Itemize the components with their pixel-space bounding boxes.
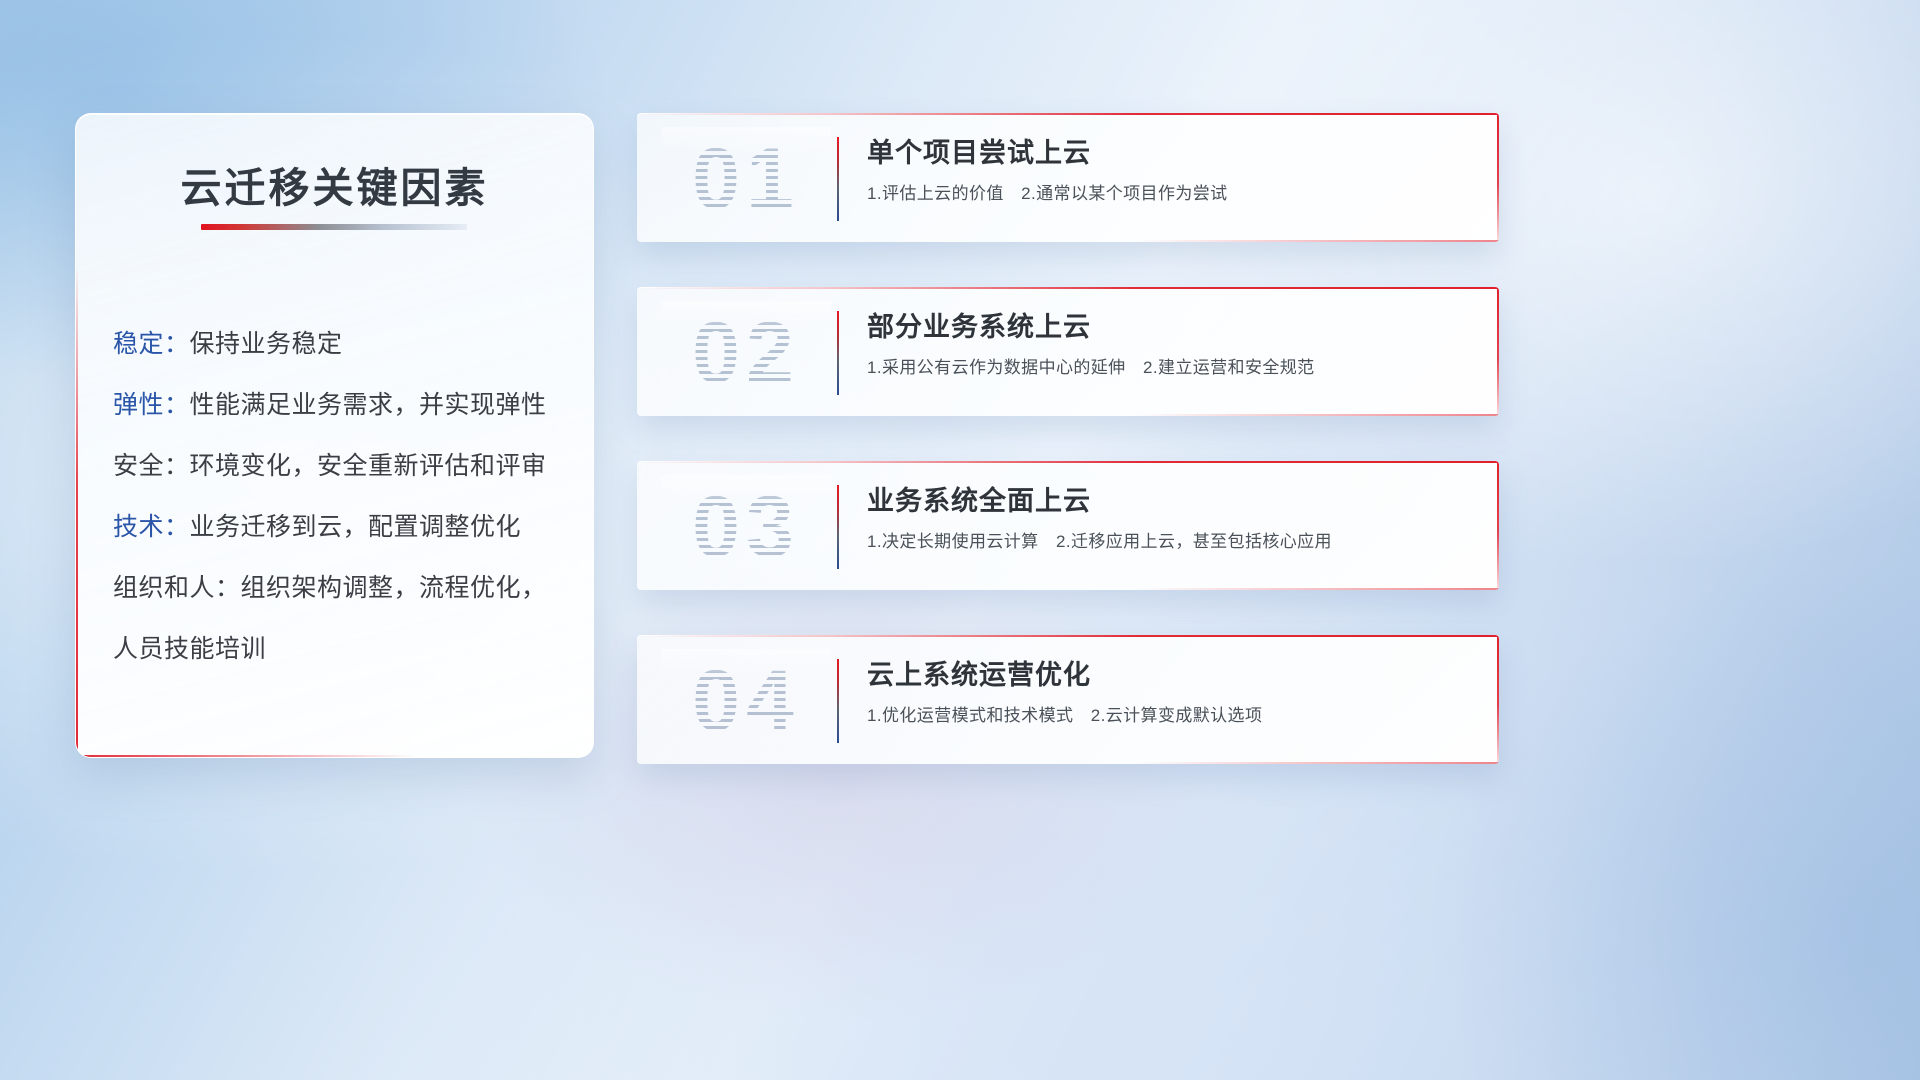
step-subtitle: 1.采用公有云作为数据中心的延伸 2.建立运营和安全规范 — [867, 355, 1475, 381]
list-item-label: 技术： — [113, 513, 190, 541]
key-factors-card: 云迁移关键因素 稳定：保持业务稳定 弹性：性能满足业务需求，并实现弹性 安全：环… — [75, 113, 594, 758]
card-right-accent-line — [1497, 635, 1499, 764]
step-title: 部分业务系统上云 — [867, 309, 1475, 345]
card-bottom-accent-line — [1137, 762, 1499, 764]
card-left-accent-line — [76, 264, 78, 758]
list-item: 稳定：保持业务稳定 — [113, 314, 565, 375]
list-item-label: 稳定： — [113, 330, 190, 358]
step-title: 云上系统运营优化 — [867, 657, 1475, 693]
list-item-text: 环境变化，安全重新评估和评审 — [190, 452, 547, 480]
step-divider-bar — [837, 659, 839, 743]
step-number: 02 — [661, 301, 831, 405]
migration-steps-list: 01 单个项目尝试上云 1.评估上云的价值 2.通常以某个项目作为尝试 02 部… — [637, 113, 1499, 809]
step-divider-bar — [837, 311, 839, 395]
card-bottom-accent-line — [1137, 588, 1499, 590]
step-title: 单个项目尝试上云 — [867, 135, 1475, 171]
list-item: 组织和人：组织架构调整，流程优化， — [113, 558, 565, 619]
step-content: 部分业务系统上云 1.采用公有云作为数据中心的延伸 2.建立运营和安全规范 — [867, 309, 1475, 381]
step-card[interactable]: 03 业务系统全面上云 1.决定长期使用云计算 2.迁移应用上云，甚至包括核心应… — [637, 461, 1499, 590]
list-item-text: 人员技能培训 — [113, 635, 266, 663]
list-item-label: 组织和人： — [113, 574, 241, 602]
step-number: 01 — [661, 127, 831, 231]
card-top-accent-line — [637, 287, 1499, 289]
step-card[interactable]: 04 云上系统运营优化 1.优化运营模式和技术模式 2.云计算变成默认选项 — [637, 635, 1499, 764]
step-divider-bar — [837, 137, 839, 221]
title-underline-gradient — [201, 224, 467, 230]
step-divider-bar — [837, 485, 839, 569]
card-top-accent-line — [637, 113, 1499, 115]
card-right-accent-line — [1497, 113, 1499, 242]
list-item-label: 安全： — [113, 452, 190, 480]
page-title: 云迁移关键因素 — [76, 154, 593, 214]
step-content: 业务系统全面上云 1.决定长期使用云计算 2.迁移应用上云，甚至包括核心应用 — [867, 483, 1475, 555]
list-item-text: 组织架构调整，流程优化， — [241, 574, 547, 602]
step-subtitle: 1.优化运营模式和技术模式 2.云计算变成默认选项 — [867, 703, 1475, 729]
card-bottom-accent-line — [1137, 414, 1499, 416]
step-number: 04 — [661, 649, 831, 753]
step-content: 单个项目尝试上云 1.评估上云的价值 2.通常以某个项目作为尝试 — [867, 135, 1475, 207]
step-number: 03 — [661, 475, 831, 579]
list-item: 技术：业务迁移到云，配置调整优化 — [113, 497, 565, 558]
step-title: 业务系统全面上云 — [867, 483, 1475, 519]
step-content: 云上系统运营优化 1.优化运营模式和技术模式 2.云计算变成默认选项 — [867, 657, 1475, 729]
card-bottom-accent-line — [1137, 240, 1499, 242]
list-item: 弹性：性能满足业务需求，并实现弹性 — [113, 375, 565, 436]
card-right-accent-line — [1497, 287, 1499, 416]
step-subtitle: 1.决定长期使用云计算 2.迁移应用上云，甚至包括核心应用 — [867, 529, 1475, 555]
card-right-accent-line — [1497, 461, 1499, 590]
list-item-label: 弹性： — [113, 391, 190, 419]
step-card[interactable]: 02 部分业务系统上云 1.采用公有云作为数据中心的延伸 2.建立运营和安全规范 — [637, 287, 1499, 416]
step-subtitle: 1.评估上云的价值 2.通常以某个项目作为尝试 — [867, 181, 1475, 207]
list-item-text: 业务迁移到云，配置调整优化 — [190, 513, 522, 541]
list-item: 安全：环境变化，安全重新评估和评审 — [113, 436, 565, 497]
card-top-accent-line — [637, 461, 1499, 463]
step-card[interactable]: 01 单个项目尝试上云 1.评估上云的价值 2.通常以某个项目作为尝试 — [637, 113, 1499, 242]
list-item-text: 保持业务稳定 — [190, 330, 343, 358]
list-item: 人员技能培训 — [113, 619, 565, 680]
key-factors-list: 稳定：保持业务稳定 弹性：性能满足业务需求，并实现弹性 安全：环境变化，安全重新… — [113, 314, 565, 680]
card-top-accent-line — [637, 635, 1499, 637]
card-bottom-accent-line — [76, 755, 417, 757]
list-item-text: 性能满足业务需求，并实现弹性 — [190, 391, 547, 419]
